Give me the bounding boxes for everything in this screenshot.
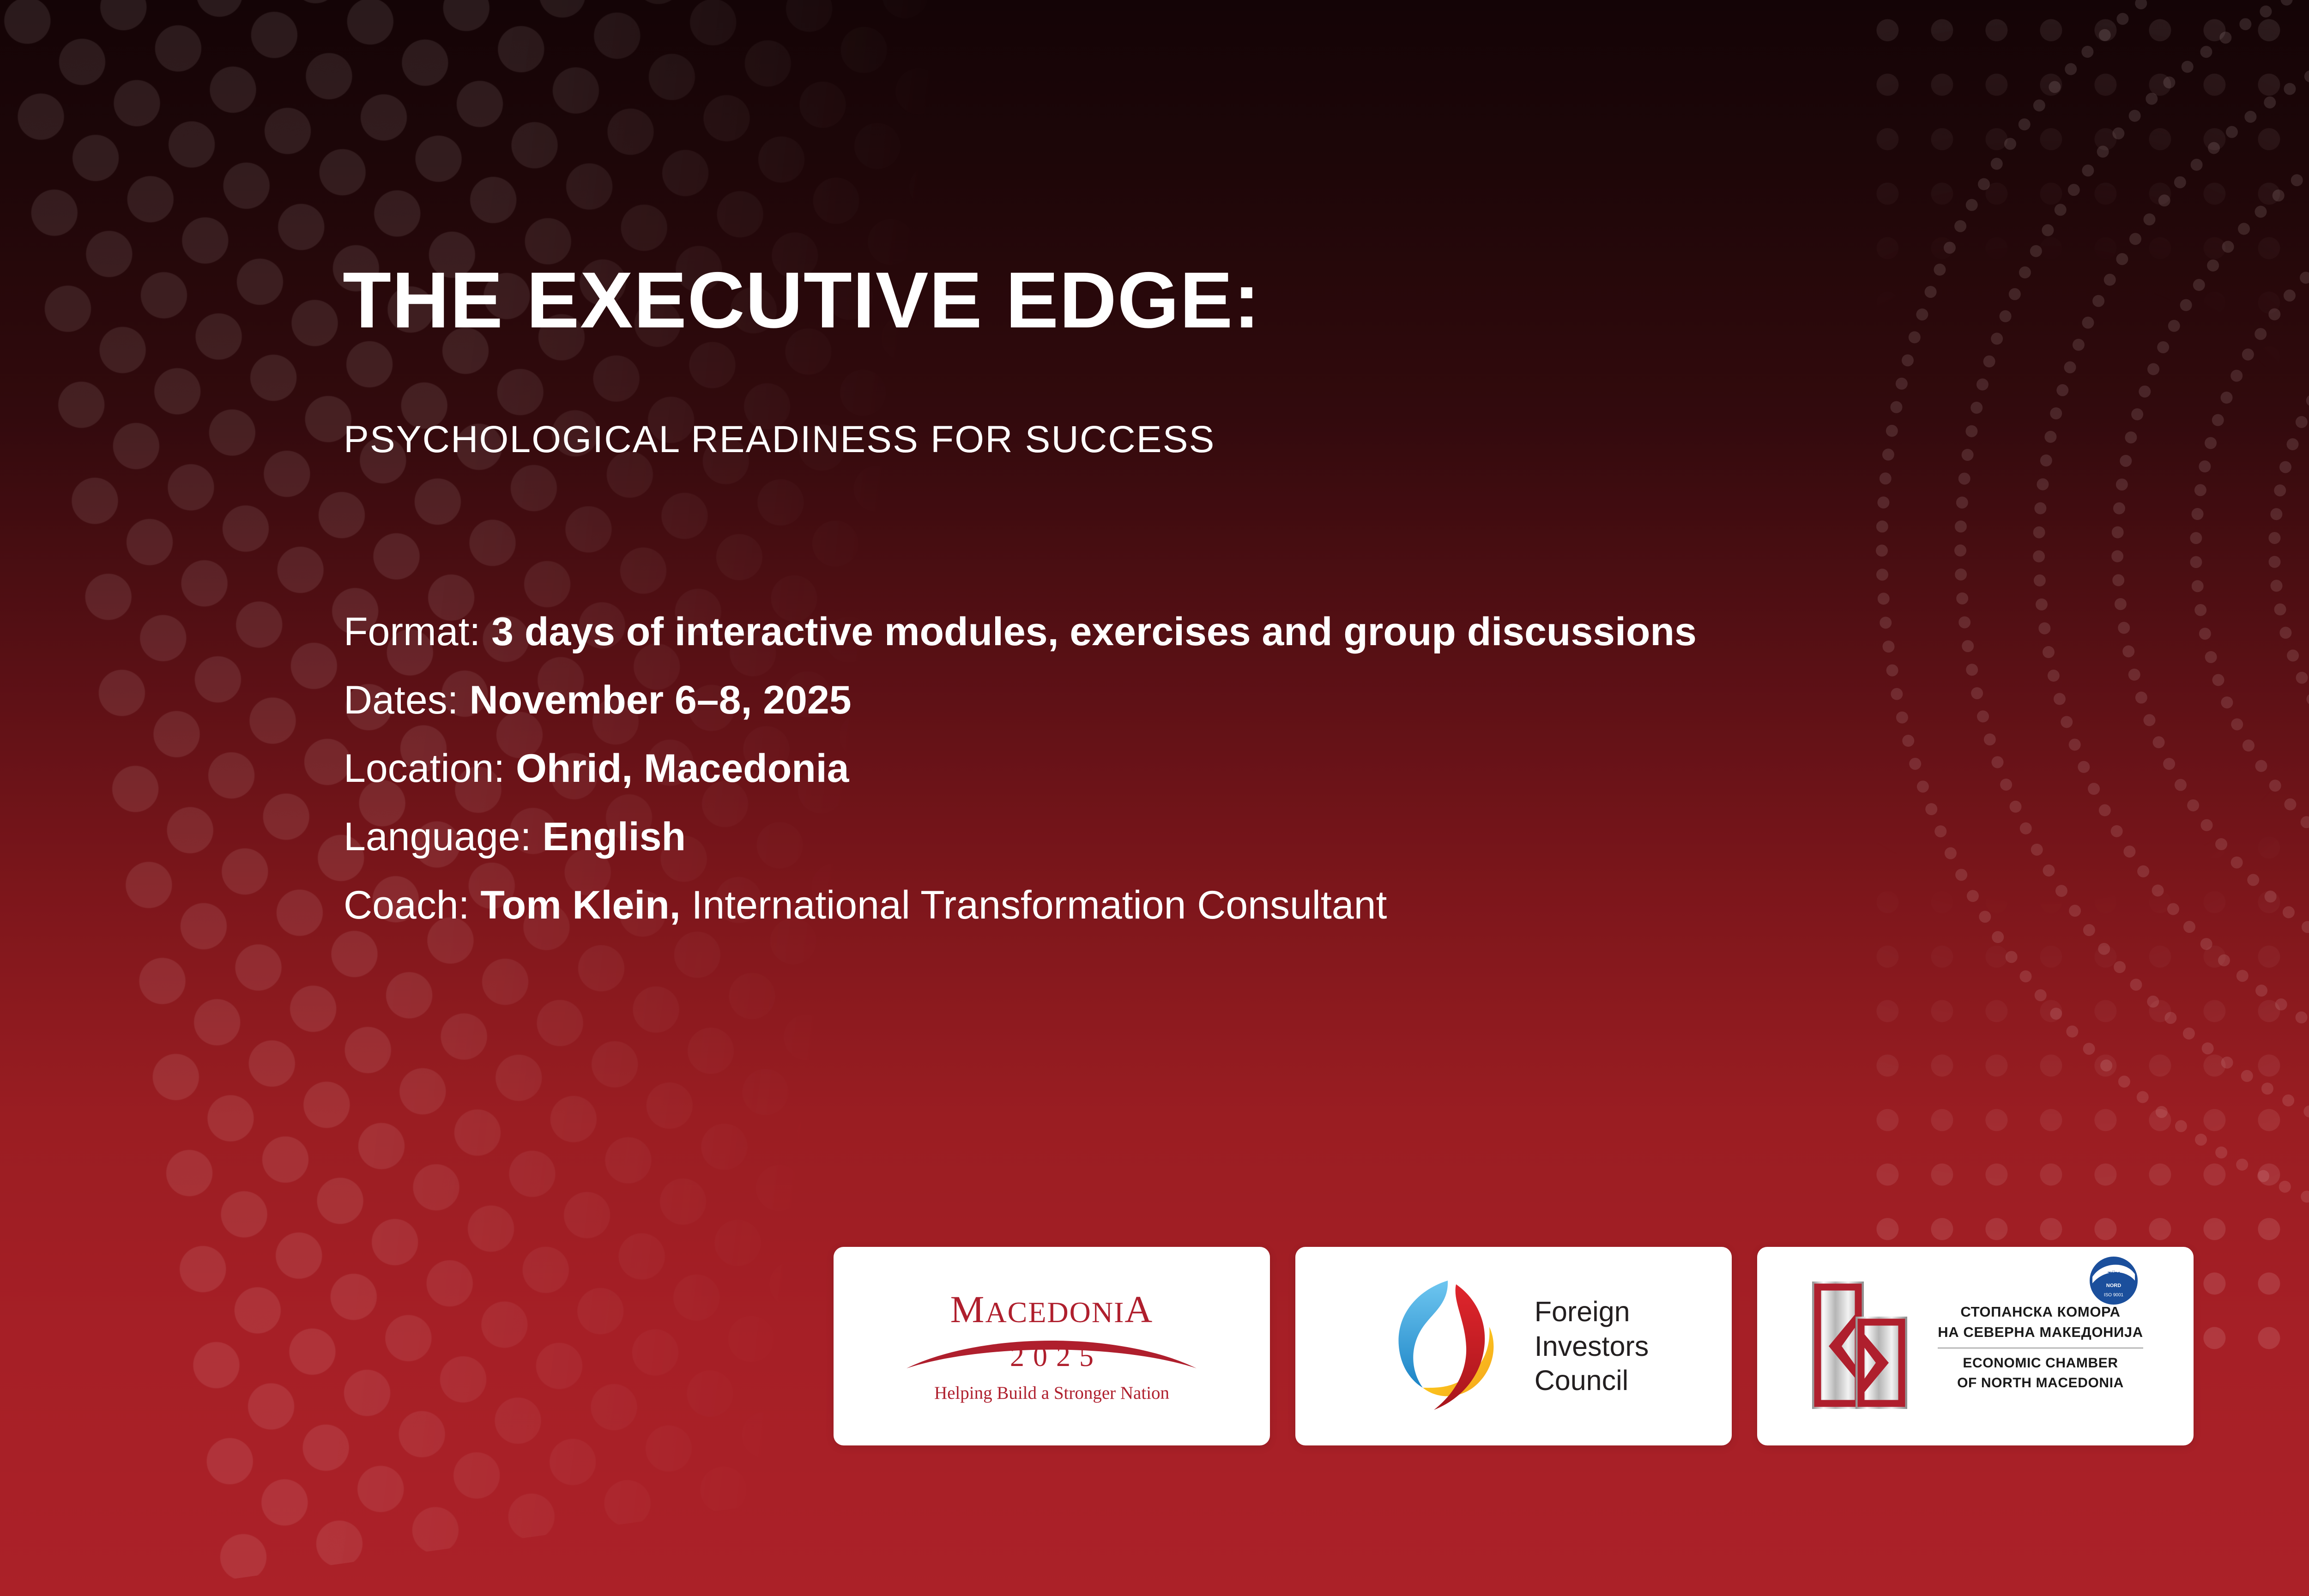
detail-label-coach: Coach: — [344, 883, 470, 927]
macedonia-tagline: Helping Build a Stronger Nation — [934, 1384, 1169, 1402]
detail-label-location: Location: — [344, 746, 505, 791]
fic-wordmark: Foreign Investors Council — [1535, 1294, 1649, 1397]
foreign-investors-council-logo: Foreign Investors Council — [1378, 1272, 1649, 1420]
ecc-divider — [1938, 1348, 2143, 1348]
detail-row-format: Format: 3 days of interactive modules, e… — [344, 598, 1697, 666]
ecc-mark-icon — [1807, 1277, 1922, 1415]
svg-text:NORD: NORD — [2106, 1283, 2121, 1288]
svg-text:ISO 9001: ISO 9001 — [2104, 1293, 2124, 1298]
detail-value-dates: November 6–8, 2025 — [469, 678, 851, 722]
ecc-name-mk: СТОПАНСКА КОМОРА НА СЕВЕРНА МАКЕДОНИЈА — [1938, 1302, 2143, 1342]
macedonia-year: 2025 — [934, 1342, 1169, 1371]
economic-chamber-logo: TÜV NORD ISO 9001 СТОПАНСКА КОМОРА НА СЕ… — [1807, 1277, 2143, 1415]
banner-content: THE EXECUTIVE EDGE: PSYCHOLOGICAL READIN… — [0, 0, 2309, 1596]
fic-line-1: Foreign — [1535, 1294, 1649, 1329]
detail-value-location: Ohrid, Macedonia — [516, 746, 849, 791]
macedonia-letter-a: A — [1124, 1288, 1153, 1330]
fic-line-3: Council — [1535, 1363, 1649, 1397]
ecc-text-block: TÜV NORD ISO 9001 СТОПАНСКА КОМОРА НА СЕ… — [1938, 1299, 2143, 1393]
ecc-iso-badge-icon: TÜV NORD ISO 9001 — [2088, 1255, 2140, 1306]
detail-label-dates: Dates: — [344, 678, 459, 722]
partner-logos: MACEDONIA 2025 Helping Build a Stronger … — [834, 1247, 2194, 1445]
macedonia-arc-wrapper: 2025 — [934, 1326, 1169, 1365]
event-banner: THE EXECUTIVE EDGE: PSYCHOLOGICAL READIN… — [0, 0, 2309, 1596]
logo-card-macedonia-2025[interactable]: MACEDONIA 2025 Helping Build a Stronger … — [834, 1247, 1270, 1445]
detail-tail-coach: International Transformation Consultant — [681, 883, 1387, 927]
page-title: THE EXECUTIVE EDGE: — [343, 259, 1261, 342]
detail-value-coach: Tom Klein, — [480, 883, 680, 927]
macedonia-2025-logo: MACEDONIA 2025 Helping Build a Stronger … — [934, 1290, 1169, 1402]
ecc-mk-line-2: НА СЕВЕРНА МАКЕДОНИЈА — [1938, 1322, 2143, 1342]
svg-text:TÜV: TÜV — [2108, 1270, 2120, 1277]
detail-row-language: Language: English — [344, 803, 1697, 871]
ecc-en-line-2: OF NORTH MACEDONIA — [1938, 1373, 2143, 1393]
fic-swirl-icon — [1378, 1272, 1517, 1420]
logo-card-foreign-investors-council[interactable]: Foreign Investors Council — [1295, 1247, 1732, 1445]
event-details-list: Format: 3 days of interactive modules, e… — [344, 598, 1697, 940]
macedonia-letters-rest: ACEDONI — [985, 1296, 1124, 1329]
ecc-en-line-1: ECONOMIC CHAMBER — [1938, 1354, 2143, 1373]
page-subtitle: PSYCHOLOGICAL READINESS FOR SUCCESS — [344, 418, 1215, 461]
detail-row-dates: Dates: November 6–8, 2025 — [344, 666, 1697, 735]
macedonia-wordmark: MACEDONIA — [934, 1290, 1169, 1329]
macedonia-letter-m: M — [950, 1288, 985, 1330]
fic-line-2: Investors — [1535, 1329, 1649, 1363]
detail-row-location: Location: Ohrid, Macedonia — [344, 735, 1697, 803]
detail-value-format: 3 days of interactive modules, exercises… — [491, 610, 1697, 654]
detail-row-coach: Coach: Tom Klein, International Transfor… — [344, 871, 1697, 940]
detail-value-language: English — [542, 815, 686, 859]
detail-label-language: Language: — [344, 815, 532, 859]
detail-label-format: Format: — [344, 610, 480, 654]
logo-card-economic-chamber[interactable]: TÜV NORD ISO 9001 СТОПАНСКА КОМОРА НА СЕ… — [1757, 1247, 2194, 1445]
ecc-name-en: ECONOMIC CHAMBER OF NORTH MACEDONIA — [1938, 1354, 2143, 1393]
